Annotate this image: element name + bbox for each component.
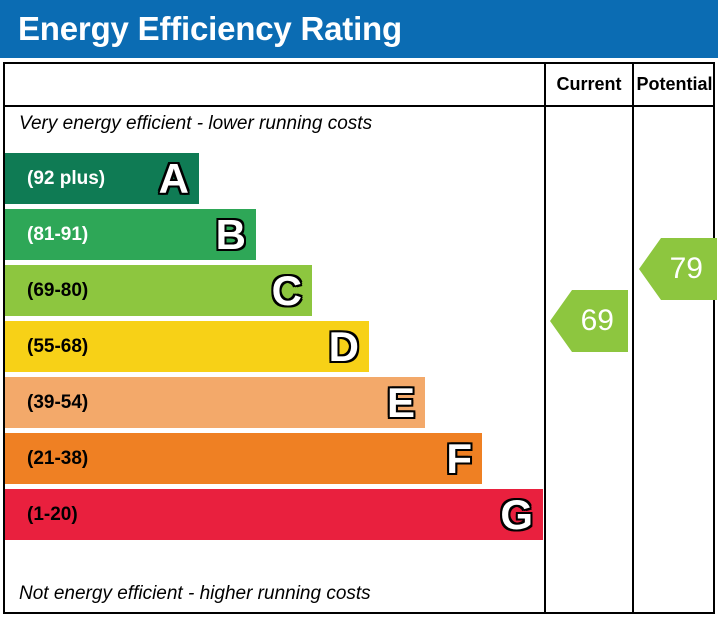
band-letter-label: F	[446, 438, 472, 480]
band-bar-f: (21-38)F	[5, 433, 482, 484]
band-range-label: (21-38)	[27, 448, 88, 470]
band-row: (92 plus)A	[5, 151, 542, 207]
band-bar-e: (39-54)E	[5, 377, 425, 428]
band-range-label: (55-68)	[27, 336, 88, 358]
current-rating-arrow: 69	[550, 290, 628, 352]
band-letter-label: D	[329, 326, 359, 368]
band-bar-b: (81-91)B	[5, 209, 256, 260]
rating-bands-area: Very energy efficient - lower running co…	[5, 107, 542, 612]
band-letter-label: B	[216, 214, 246, 256]
energy-efficiency-rating-chart: Energy Efficiency Rating Current Potenti…	[0, 0, 718, 619]
band-bar-d: (55-68)D	[5, 321, 369, 372]
band-letter-label: C	[272, 270, 302, 312]
band-row: (21-38)F	[5, 431, 542, 487]
band-letter-label: G	[500, 494, 533, 536]
caption-very-efficient: Very energy efficient - lower running co…	[19, 113, 372, 135]
band-range-label: (69-80)	[27, 280, 88, 302]
band-range-label: (81-91)	[27, 224, 88, 246]
band-row: (1-20)G	[5, 487, 542, 543]
band-bar-g: (1-20)G	[5, 489, 543, 540]
potential-column-divider	[632, 64, 634, 612]
band-row: (55-68)D	[5, 319, 542, 375]
band-letter-label: E	[387, 382, 415, 424]
band-letter-label: A	[159, 158, 189, 200]
band-range-label: (1-20)	[27, 504, 78, 526]
band-bars-list: (92 plus)A(81-91)B(69-80)C(55-68)D(39-54…	[5, 151, 542, 543]
potential-column-header: Potential	[634, 64, 715, 105]
potential-rating-arrow: 79	[639, 238, 717, 300]
rating-table: Current Potential Very energy efficient …	[3, 62, 715, 614]
band-bar-c: (69-80)C	[5, 265, 312, 316]
band-row: (81-91)B	[5, 207, 542, 263]
caption-not-efficient: Not energy efficient - higher running co…	[19, 583, 371, 605]
current-column-header: Current	[546, 64, 632, 105]
potential-rating-value: 79	[670, 252, 703, 286]
current-column-divider	[544, 64, 546, 612]
band-bar-a: (92 plus)A	[5, 153, 199, 204]
band-range-label: (92 plus)	[27, 168, 105, 190]
current-rating-value: 69	[581, 304, 614, 338]
band-row: (39-54)E	[5, 375, 542, 431]
chart-header: Energy Efficiency Rating	[0, 0, 718, 58]
band-range-label: (39-54)	[27, 392, 88, 414]
page-title: Energy Efficiency Rating	[18, 10, 402, 48]
band-row: (69-80)C	[5, 263, 542, 319]
